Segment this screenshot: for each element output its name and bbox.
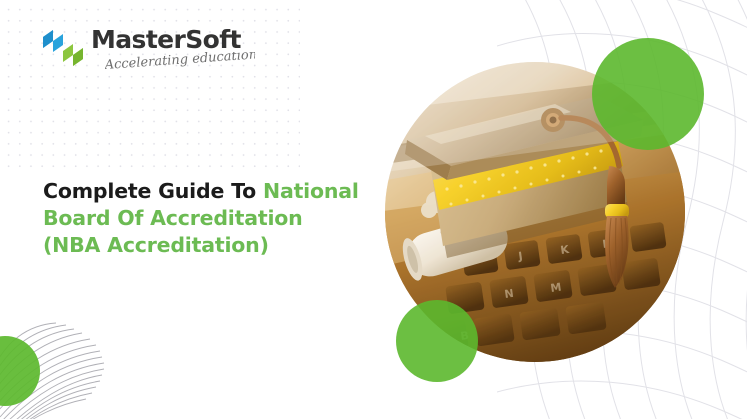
accent-circle-top-right	[592, 38, 704, 150]
accent-circle-bottom-center	[396, 300, 478, 382]
svg-text:Accelerating education...: Accelerating education...	[105, 52, 255, 73]
blog-banner: MasterSoft Accelerating education... Com…	[0, 0, 747, 419]
brand-tagline: Accelerating education...	[105, 52, 255, 76]
brand-logo[interactable]: MasterSoft Accelerating education...	[41, 26, 241, 68]
headline-plain-part: Complete Guide To	[43, 179, 263, 203]
accent-circle-bottom-left	[0, 336, 40, 406]
headline-accent-line3: (NBA Accreditation)	[43, 233, 269, 257]
mastersoft-chevron-logo-icon	[41, 28, 85, 68]
headline-accent-line1: National	[263, 179, 359, 203]
brand-name: MasterSoft	[91, 26, 241, 53]
page-title: Complete Guide To National Board Of Accr…	[43, 178, 373, 259]
headline-accent-line2: Board Of Accreditation	[43, 206, 303, 230]
